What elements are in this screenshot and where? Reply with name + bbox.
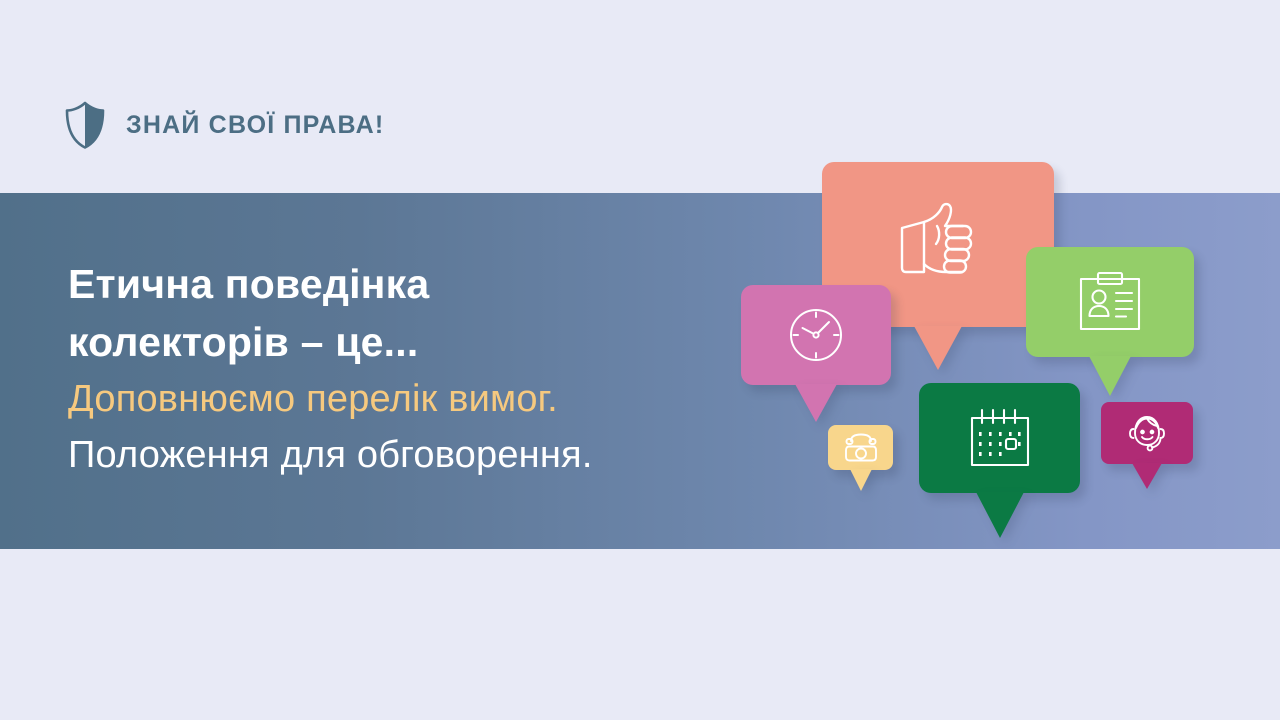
bubble-tail bbox=[914, 326, 962, 370]
poster-canvas: ЗНАЙ СВОЇ ПРАВА! Етична поведінка колект… bbox=[0, 0, 1280, 720]
thumbs-up-icon bbox=[890, 201, 986, 289]
headline-line-3: Доповнюємо перелік вимог. bbox=[68, 371, 728, 427]
support-agent-headset-icon bbox=[1125, 412, 1169, 454]
speech-bubble-phone[interactable] bbox=[828, 425, 893, 470]
bubble-tail bbox=[1089, 356, 1131, 396]
brand-logo[interactable]: ЗНАЙ СВОЇ ПРАВА! bbox=[64, 100, 384, 150]
headline-line-1: Етична поведінка bbox=[68, 255, 728, 313]
calendar-icon bbox=[967, 407, 1033, 469]
bubble-tail bbox=[1132, 463, 1162, 489]
calendar-selected-day bbox=[1006, 439, 1016, 449]
headline-block: Етична поведінка колекторів – це... Допо… bbox=[68, 255, 728, 483]
brand-logo-text: ЗНАЙ СВОЇ ПРАВА! bbox=[126, 113, 384, 138]
speech-bubble-clock[interactable] bbox=[741, 285, 891, 385]
shield-icon bbox=[64, 100, 106, 150]
clock-icon bbox=[785, 304, 847, 366]
bubble-tail bbox=[976, 492, 1024, 538]
clipboard-person-icon bbox=[1077, 271, 1143, 333]
bubble-tail bbox=[795, 384, 837, 422]
headline-line-2: колекторів – це... bbox=[68, 313, 728, 371]
speech-bubble-clipboard[interactable] bbox=[1026, 247, 1194, 357]
headline-line-4: Положення для обговорення. bbox=[68, 427, 728, 483]
rotary-phone-icon bbox=[844, 433, 878, 463]
speech-bubble-calendar[interactable] bbox=[919, 383, 1080, 493]
speech-bubble-headset[interactable] bbox=[1101, 402, 1193, 464]
bubble-tail bbox=[850, 469, 872, 491]
